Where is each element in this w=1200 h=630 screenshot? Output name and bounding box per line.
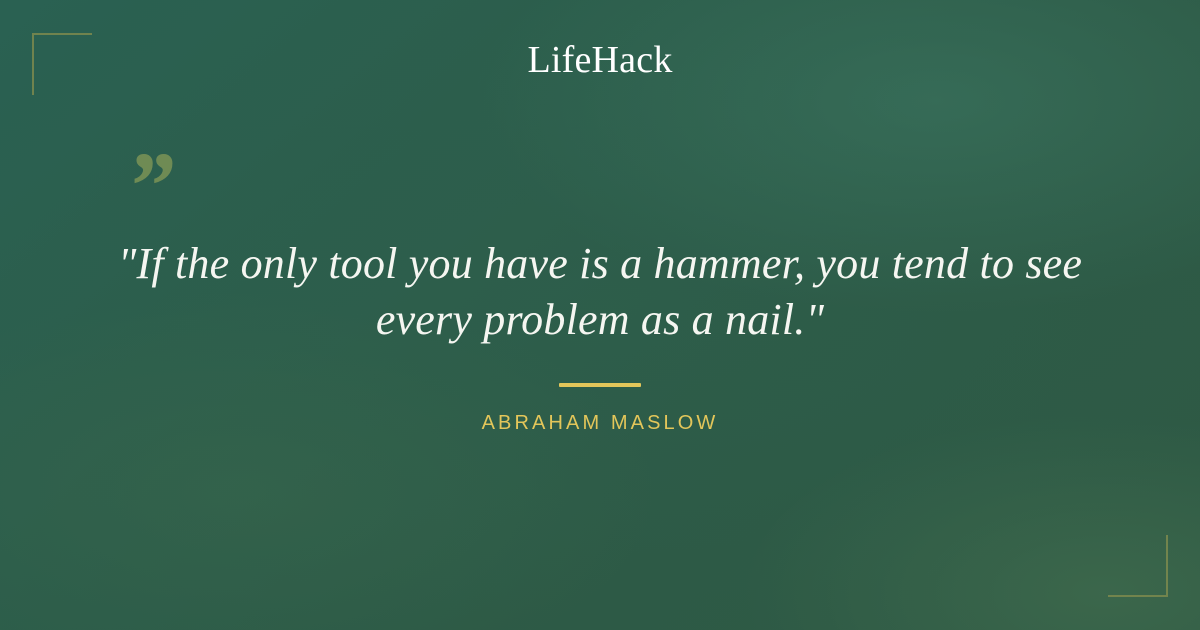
quote-block: "If the only tool you have is a hammer, … [80, 236, 1120, 349]
corner-bracket-bottom-right-icon [1108, 535, 1168, 597]
quote-mark-icon: ” [126, 138, 174, 234]
brand-logo: LifeHack [0, 40, 1200, 82]
quote-author: ABRAHAM MASLOW [0, 412, 1200, 435]
divider-container [0, 383, 1200, 387]
quote-text: "If the only tool you have is a hammer, … [80, 236, 1120, 349]
accent-divider [559, 383, 641, 387]
quote-card: LifeHack ” "If the only tool you have is… [0, 0, 1200, 630]
